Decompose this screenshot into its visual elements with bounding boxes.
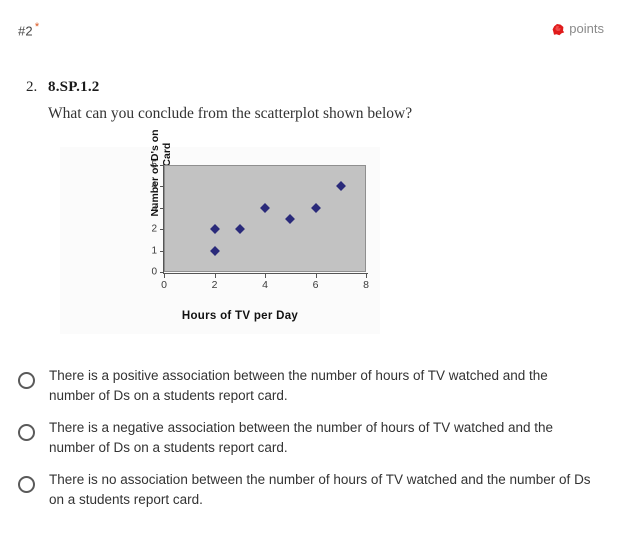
answer-options: There is a positive association between … [0, 358, 620, 514]
x-tick-label: 4 [262, 279, 268, 291]
answer-option[interactable]: There is no association between the numb… [0, 462, 620, 514]
y-tick-mark [160, 186, 164, 187]
y-tick-mark [160, 229, 164, 230]
x-tick-mark [316, 274, 317, 278]
y-tick-label: 5 [151, 160, 157, 171]
question-number: 2. [26, 76, 48, 98]
x-tick-label: 2 [212, 279, 218, 291]
y-tick-label: 2 [151, 224, 157, 235]
radio-button-option-negative[interactable] [18, 424, 35, 441]
x-tick-mark [366, 274, 367, 278]
plot-area [164, 165, 366, 272]
scatterplot-figure: Number of D's on Report Card 012345 0246… [60, 147, 380, 334]
answer-option[interactable]: There is a negative association between … [0, 410, 620, 462]
question-id: #2* [18, 21, 39, 38]
answer-option[interactable]: There is a positive association between … [0, 358, 620, 410]
scatterplot-chart: Number of D's on Report Card 012345 0246… [60, 147, 380, 334]
question-prompt: What can you conclude from the scatterpl… [48, 102, 428, 125]
y-tick-mark [160, 165, 164, 166]
question-header-bar: #2* points [0, 0, 620, 50]
radio-button-option-positive[interactable] [18, 372, 35, 389]
required-asterisk: * [35, 21, 39, 33]
x-tick-mark [164, 274, 165, 278]
answer-option-label[interactable]: There is no association between the numb… [49, 462, 597, 510]
x-tick-mark [215, 274, 216, 278]
red-blob-icon [552, 23, 565, 36]
x-tick-label: 6 [313, 279, 319, 291]
question-body: 8.SP.1.2 What can you conclude from the … [48, 76, 620, 125]
answer-option-label[interactable]: There is a positive association between … [49, 358, 597, 406]
y-tick-label: 1 [151, 245, 157, 256]
question-block: 2. 8.SP.1.2 What can you conclude from t… [0, 76, 620, 125]
y-tick-mark [160, 208, 164, 209]
y-tick-mark [160, 251, 164, 252]
question-row: 2. 8.SP.1.2 What can you conclude from t… [0, 76, 620, 125]
answer-option-label[interactable]: There is a negative association between … [49, 410, 597, 458]
x-tick-label: 8 [363, 279, 369, 291]
y-tick-label: 3 [151, 202, 157, 213]
y-tick-label: 0 [151, 267, 157, 278]
radio-button-option-none[interactable] [18, 476, 35, 493]
x-tick-label: 0 [161, 279, 167, 291]
points-indicator: points [552, 21, 604, 36]
points-label: points [569, 21, 604, 36]
y-tick-label: 4 [151, 181, 157, 192]
question-id-text: #2 [18, 23, 33, 38]
x-tick-mark [265, 274, 266, 278]
x-axis-label: Hours of TV per Day [120, 310, 360, 322]
standard-code: 8.SP.1.2 [48, 76, 620, 98]
y-tick-mark [160, 272, 164, 273]
